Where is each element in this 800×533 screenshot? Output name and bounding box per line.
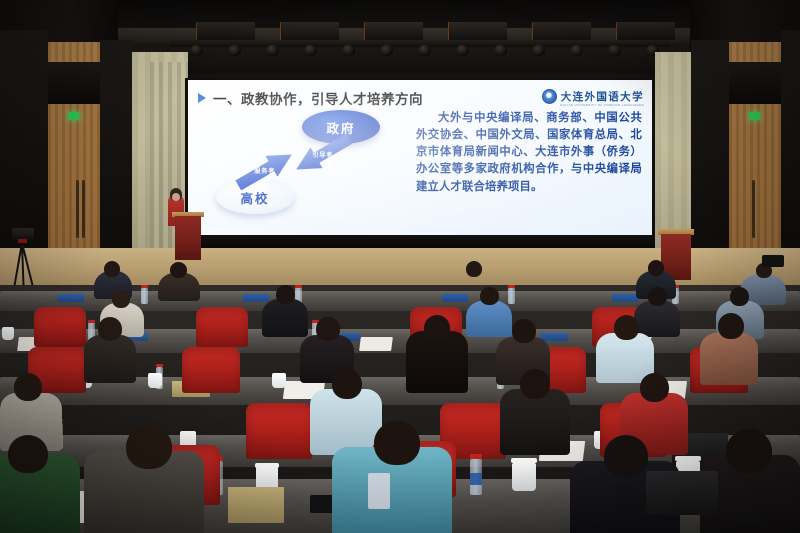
audience-chair	[246, 403, 312, 459]
mug-lid	[255, 463, 279, 468]
bottle-cap	[470, 454, 482, 459]
ceiling-baffle	[364, 22, 423, 40]
bottle-cap	[88, 320, 95, 323]
door-handle	[752, 180, 755, 238]
handheld-camera	[762, 255, 784, 267]
audience-head	[316, 317, 340, 341]
bottle-label	[470, 473, 482, 485]
audience-person	[700, 333, 758, 385]
audience-head	[614, 315, 639, 340]
audience-head	[104, 261, 120, 277]
audience-head	[466, 261, 482, 277]
wooden-podium-left	[175, 216, 201, 260]
audience-head	[640, 373, 669, 402]
audience-head	[126, 425, 172, 469]
name-placard	[243, 294, 269, 302]
ceiling-baffle	[616, 22, 675, 40]
ceiling-baffle	[448, 22, 507, 40]
ceiling-baffle	[532, 22, 591, 40]
audience-person	[84, 335, 136, 383]
tablet-device	[646, 471, 718, 515]
university-name-english: DALIAN UNIVERSITY OF FOREIGN LANGUAGES	[560, 103, 644, 107]
audience-chair	[34, 307, 86, 347]
slide-title-row: 一、政教协作，引导人才培养方向	[198, 88, 423, 108]
stage-spotlight	[418, 45, 431, 56]
audience-person	[262, 299, 308, 337]
exit-sign	[68, 112, 79, 120]
audience-head	[276, 285, 295, 304]
mug-lid	[675, 456, 701, 461]
presenter-face	[172, 193, 180, 201]
bottle-cap	[141, 285, 148, 288]
stage-spotlight	[494, 45, 507, 56]
audience-area	[0, 285, 800, 533]
projection-screen-base	[185, 235, 655, 248]
audience-head	[512, 319, 536, 343]
presentation-slide: 一、政教协作，引导人才培养方向 大连外国语大学 DALIAN UNIVERSIT…	[188, 80, 652, 235]
audience-head	[374, 421, 420, 465]
stage-spotlight	[190, 45, 203, 56]
audience-head	[730, 287, 749, 306]
audience-head	[98, 317, 122, 341]
video-camera-on-tripod	[6, 228, 46, 290]
smartphone-held	[368, 473, 390, 509]
audience-head	[480, 287, 499, 305]
water-bottle	[141, 287, 148, 304]
name-placard	[612, 294, 638, 302]
audience-head	[8, 435, 48, 473]
tea-mug	[512, 463, 536, 491]
audience-chair	[196, 307, 248, 347]
audience-chair	[182, 347, 240, 393]
wall-recess	[729, 62, 781, 104]
university-logo: 大连外国语大学	[542, 89, 644, 104]
audience-head	[112, 290, 130, 308]
auditorium-scene: 一、政教协作，引导人才培养方向 大连外国语大学 DALIAN UNIVERSIT…	[0, 0, 800, 533]
audience-head	[648, 287, 667, 306]
bottle-cap	[156, 364, 163, 367]
bottle-cap	[508, 285, 515, 288]
audience-person	[634, 301, 680, 337]
water-bottle	[508, 287, 515, 304]
diagram-arrow-service-label: 服务者	[254, 166, 275, 175]
ceiling-baffle	[196, 22, 255, 40]
audience-head	[604, 435, 648, 477]
stage-spotlight	[304, 45, 317, 56]
university-name: 大连外国语大学	[561, 89, 644, 104]
slide-title: 一、政教协作，引导人才培养方向	[213, 88, 423, 108]
audience-head	[520, 369, 550, 399]
stage-spotlight	[456, 45, 469, 56]
name-placard	[58, 294, 84, 302]
audience-head	[170, 262, 187, 278]
audience-person	[466, 301, 512, 337]
audience-head	[424, 315, 450, 341]
stage-spotlight	[266, 45, 279, 56]
stage-spotlight	[380, 45, 393, 56]
audience-head	[332, 369, 362, 399]
ceiling-baffle	[280, 22, 339, 40]
stage-spotlight	[608, 45, 621, 56]
exit-sign	[749, 112, 760, 120]
triangle-right-icon	[198, 93, 206, 103]
diagram-arrow-guide-label: 引导者	[312, 150, 333, 159]
university-seal-icon	[542, 89, 557, 104]
bottle-cap	[295, 285, 302, 288]
door-handle	[76, 180, 79, 238]
mug-lid	[511, 458, 537, 463]
tea-mug	[2, 327, 14, 340]
audience-head	[648, 260, 664, 276]
slide-body-text: 大外与中央编译局、商务部、中国公共外交协会、中国外文局、国家体育总局、北京市体育…	[416, 110, 642, 196]
governance-diagram: 政府 高校 服务者 引导者	[206, 108, 402, 228]
stage-spotlight	[570, 45, 583, 56]
audience-head	[718, 313, 744, 339]
stage-spotlight	[532, 45, 545, 56]
document-paper	[359, 337, 393, 351]
diagram-node-university: 高校	[216, 180, 294, 214]
stage-spotlight	[228, 45, 241, 56]
wall-recess	[48, 62, 100, 104]
notebook	[228, 487, 284, 523]
door-handle	[82, 180, 85, 238]
audience-head	[14, 373, 42, 401]
tea-mug	[148, 373, 162, 388]
stage-spotlight	[342, 45, 355, 56]
audience-head	[726, 429, 772, 473]
